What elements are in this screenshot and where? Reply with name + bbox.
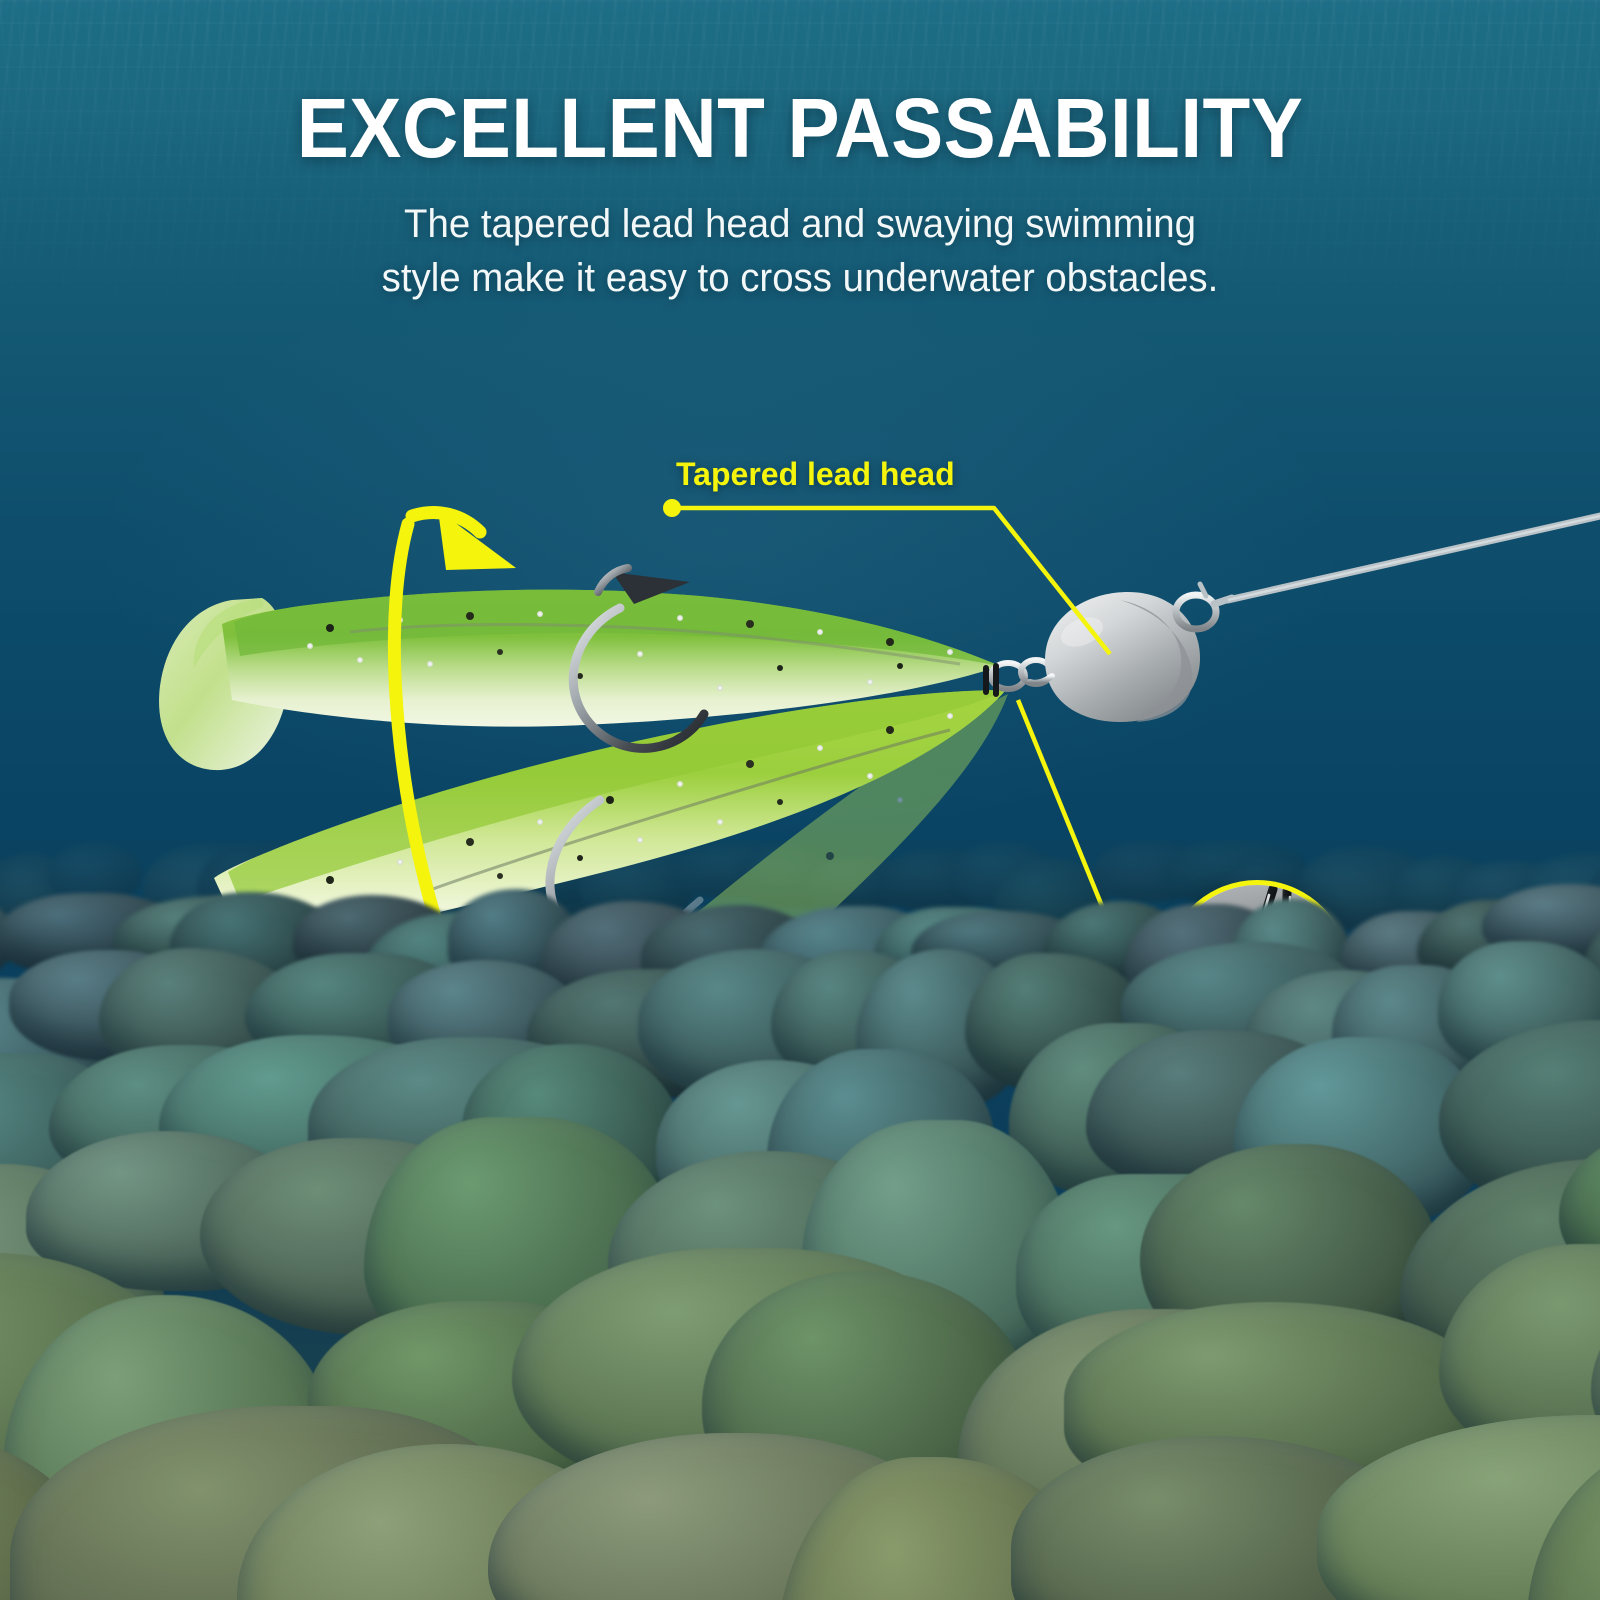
callout-label-tapered-lead-head: Tapered lead head bbox=[676, 456, 955, 493]
subtitle-line-1: The tapered lead head and swaying swimmi… bbox=[404, 202, 1196, 246]
leader-tapered-lead-head bbox=[663, 499, 1110, 654]
page-title: EXCELLENT PASSABILITY bbox=[56, 86, 1544, 170]
subtitle-line-2: style make it easy to cross underwater o… bbox=[382, 256, 1219, 300]
product-feature-banner: EXCELLENT PASSABILITY The tapered lead h… bbox=[0, 0, 1600, 1600]
riverbed-rocks bbox=[0, 840, 1600, 1600]
page-subtitle: The tapered lead head and swaying swimmi… bbox=[32, 198, 1568, 305]
